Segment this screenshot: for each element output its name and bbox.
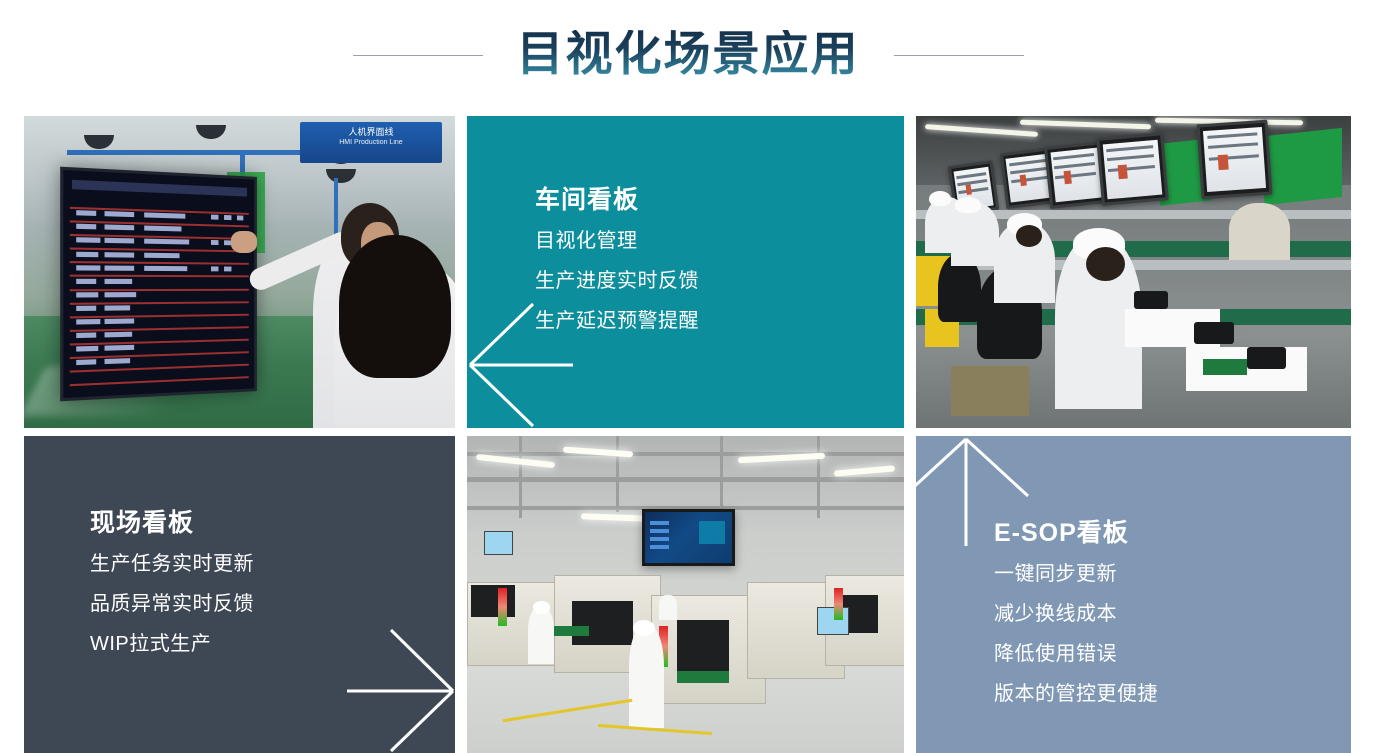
panel-content: 现场看板 生产任务实时更新 品质异常实时反馈 WIP拉式生产 [24, 508, 455, 654]
wall-screen [484, 531, 512, 555]
panel-site-kanban[interactable]: 现场看板 生产任务实时更新 品质异常实时反馈 WIP拉式生产 [24, 436, 455, 753]
panel-line: 版本的管控更便捷 [994, 684, 1351, 704]
second-worker-hair [339, 235, 451, 379]
smt-floor-photo [467, 436, 904, 753]
esop-monitor [1196, 120, 1272, 199]
worker-cap [955, 197, 981, 213]
worker-hand [231, 231, 257, 253]
line-worker [951, 203, 999, 265]
hmi-line-sign: 人机界面线 HMI Production Line [300, 122, 442, 163]
panel-title-site: 现场看板 [90, 508, 455, 538]
panel-line: 减少换线成本 [994, 604, 1351, 624]
scenario-grid: 人机界面线 HMI Production Line [24, 116, 1352, 753]
photo-card-smt-floor[interactable] [467, 436, 904, 753]
line-worker [1229, 203, 1290, 259]
title-rule-right [894, 55, 1024, 56]
esop-assembly-photo [916, 116, 1351, 428]
panel-workshop-kanban[interactable]: 车间看板 目视化管理 生产进度实时反馈 生产延迟预警提醒 [467, 116, 904, 428]
photo-card-esop-line[interactable] [916, 116, 1351, 428]
smt-worker [528, 607, 554, 664]
panel-line: 目视化管理 [535, 231, 904, 251]
photo-card-kanban-board[interactable]: 人机界面线 HMI Production Line [24, 116, 455, 428]
title-rule-left [353, 55, 483, 56]
smt-worker [659, 595, 676, 620]
esop-monitor [1096, 132, 1169, 206]
page-header: 目视化场景应用 [0, 0, 1376, 110]
panel-line: 生产任务实时更新 [90, 554, 455, 574]
page-title: 目视化场景应用 [517, 30, 860, 81]
worker-cap [929, 191, 951, 207]
hmi-sign-cn: 人机界面线 [300, 126, 442, 138]
hmi-sign-en: HMI Production Line [300, 138, 442, 147]
smt-worker [629, 626, 664, 727]
frame-rail [67, 150, 317, 155]
kanban-display-board [60, 167, 257, 402]
panel-title-esop: E-SOP看板 [994, 518, 1351, 548]
panel-line: 降低使用错误 [994, 644, 1351, 664]
board-header-row [71, 180, 246, 197]
panel-content: E-SOP看板 一键同步更新 减少换线成本 降低使用错误 版本的管控更便捷 [916, 518, 1351, 704]
panel-line: 生产进度实时反馈 [535, 271, 904, 291]
panel-line: 生产延迟预警提醒 [535, 311, 904, 331]
ceiling-display [642, 509, 735, 566]
panel-content: 车间看板 目视化管理 生产进度实时反馈 生产延迟预警提醒 [467, 185, 904, 331]
panel-line: 一键同步更新 [994, 564, 1351, 584]
panel-line: WIP拉式生产 [90, 634, 455, 654]
factory-kanban-photo: 人机界面线 HMI Production Line [24, 116, 455, 428]
panel-line: 品质异常实时反馈 [90, 594, 455, 614]
panel-esop-kanban[interactable]: E-SOP看板 一键同步更新 减少换线成本 降低使用错误 版本的管控更便捷 [916, 436, 1351, 753]
worker-cap [533, 601, 550, 614]
worker-cap [633, 620, 655, 636]
panel-title-workshop: 车间看板 [535, 185, 904, 215]
